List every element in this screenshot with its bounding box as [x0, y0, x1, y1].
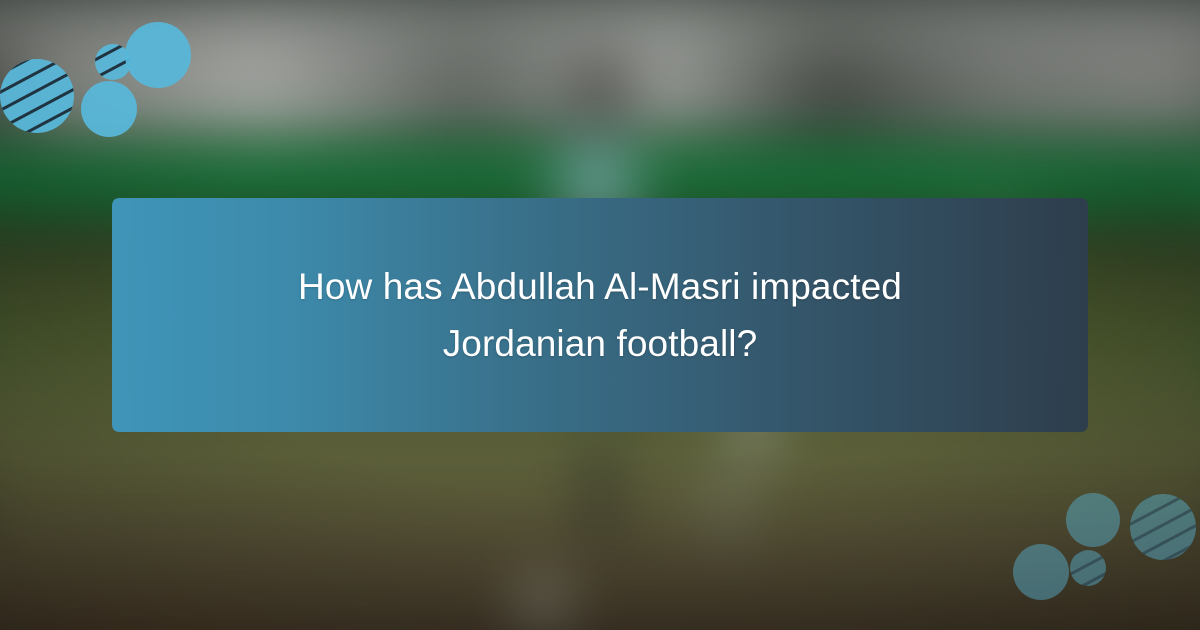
- circle-striped-small-stripes: [1070, 550, 1106, 586]
- headline-banner: How has Abdullah Al-Masri impacted Jorda…: [112, 198, 1088, 432]
- circle-striped-large-stripes: [1130, 494, 1196, 560]
- circle-plain-medium: [1066, 493, 1120, 547]
- circle-plain-medium: [81, 81, 137, 137]
- circle-plain-large: [125, 22, 191, 88]
- circle-striped-large-stripes: [0, 59, 74, 133]
- decoration-cluster-top-left: [0, 22, 191, 137]
- circle-plain-large: [1013, 544, 1069, 600]
- decoration-cluster-bottom-right: [1013, 493, 1196, 600]
- social-share-card: How has Abdullah Al-Masri impacted Jorda…: [0, 0, 1200, 630]
- headline-container: How has Abdullah Al-Masri impacted Jorda…: [112, 198, 1088, 432]
- page-title: How has Abdullah Al-Masri impacted Jorda…: [250, 258, 950, 373]
